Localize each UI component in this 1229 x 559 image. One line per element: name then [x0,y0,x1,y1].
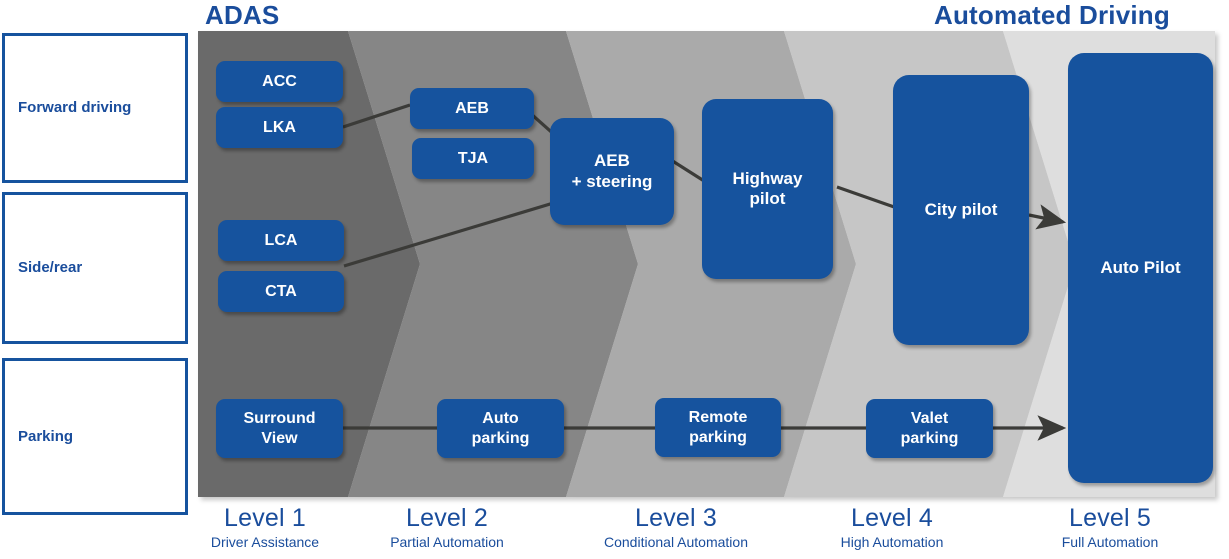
level-label-4: Level 4 High Automation [812,505,972,551]
level-name: Level 5 [1030,505,1190,531]
category-box-parking[interactable]: Parking [2,358,188,515]
level-label-3: Level 3 Conditional Automation [578,505,774,551]
page-title-automated-driving: Automated Driving [934,0,1170,31]
link-citypilot-to-autopilot [1029,215,1063,222]
node-aeb-plus-steering[interactable]: AEB+ steering [550,118,674,225]
category-box-forward-driving[interactable]: Forward driving [2,33,188,183]
level-label-2: Level 2 Partial Automation [362,505,532,551]
page-title-adas: ADAS [205,0,279,31]
link-highwaypilot-to-citypilot [837,187,897,208]
level-subtitle: Partial Automation [362,533,532,551]
level-label-1: Level 1 Driver Assistance [185,505,345,551]
level-subtitle: Full Automation [1030,533,1190,551]
level-name: Level 3 [578,505,774,531]
node-highway-pilot[interactable]: Highwaypilot [702,99,833,279]
level-subtitle: Driver Assistance [185,533,345,551]
level-subtitle: Conditional Automation [578,533,774,551]
link-lca-to-aebsteering [344,195,580,266]
level-name: Level 1 [185,505,345,531]
node-cta[interactable]: CTA [218,271,344,312]
level-subtitle: High Automation [812,533,972,551]
node-remote-parking[interactable]: Remoteparking [655,398,781,457]
diagram-canvas: ADAS Automated Driving Forward driving S… [0,0,1229,559]
category-label: Side/rear [5,259,82,276]
node-auto-parking[interactable]: Autoparking [437,399,564,458]
level-label-5: Level 5 Full Automation [1030,505,1190,551]
node-city-pilot[interactable]: City pilot [893,75,1029,345]
node-lka[interactable]: LKA [216,107,343,148]
node-lca[interactable]: LCA [218,220,344,261]
node-auto-pilot[interactable]: Auto Pilot [1068,53,1213,483]
link-lka-to-aeb [343,105,410,127]
category-label: Parking [5,428,73,445]
level-name: Level 2 [362,505,532,531]
node-valet-parking[interactable]: Valetparking [866,399,993,458]
node-aeb[interactable]: AEB [410,88,534,129]
node-tja[interactable]: TJA [412,138,534,179]
node-surround-view[interactable]: SurroundView [216,399,343,458]
node-acc[interactable]: ACC [216,61,343,102]
level-name: Level 4 [812,505,972,531]
category-label: Forward driving [5,99,131,116]
category-box-side-rear[interactable]: Side/rear [2,192,188,344]
